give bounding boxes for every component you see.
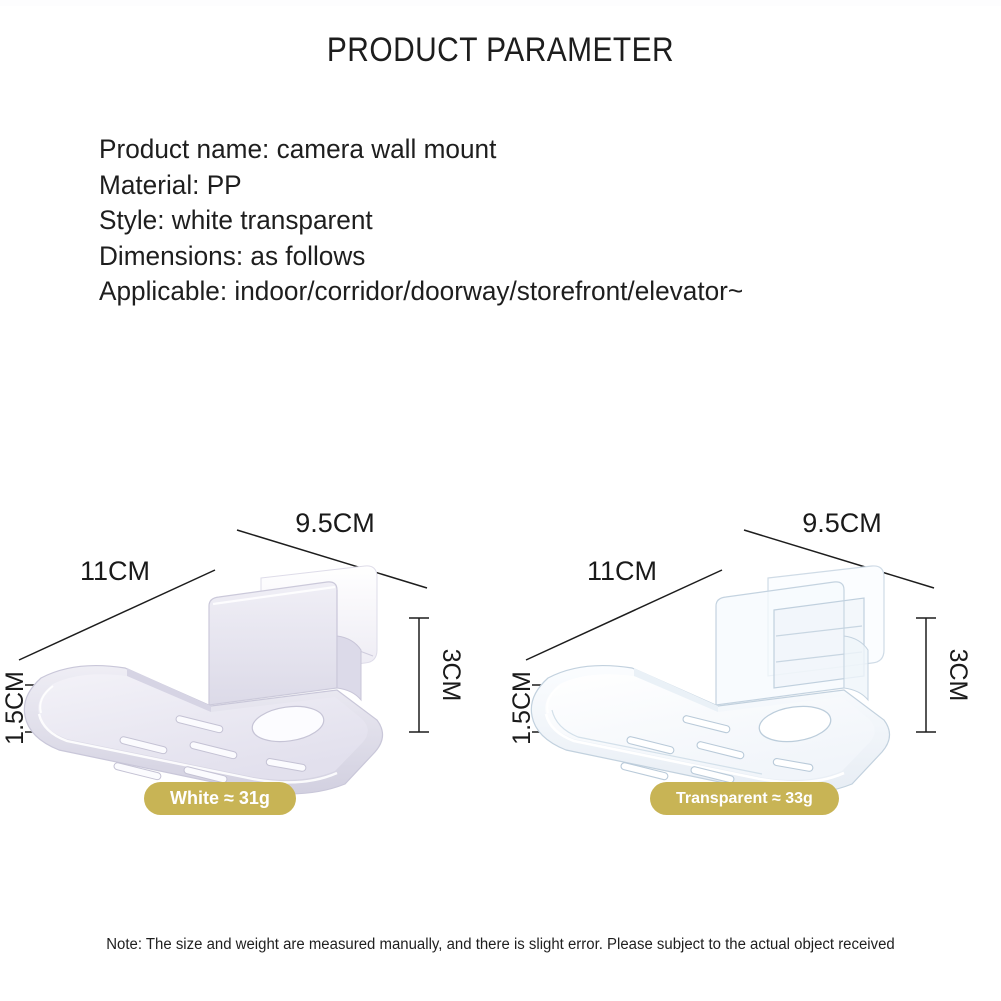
top-edge-artifact (0, 0, 1001, 6)
variant-badge-transparent: Transparent ≈ 33g (650, 782, 839, 815)
label-depth-white: 11CM (80, 556, 150, 586)
label-back-height-transparent: 3CM (944, 649, 972, 702)
label-back-height-white: 3CM (437, 649, 465, 702)
label-tray-height-transparent: 1.5CM (512, 671, 536, 745)
label-width-transparent: 9.5CM (802, 508, 882, 538)
spec-line-dimensions: Dimensions: as follows (99, 239, 894, 275)
label-width-white: 9.5CM (295, 508, 375, 538)
variant-badge-white: White ≈ 31g (144, 782, 296, 815)
label-tray-height-white: 1.5CM (5, 671, 29, 745)
spec-line-applicable: Applicable: indoor/corridor/doorway/stor… (99, 274, 894, 310)
spec-line-product-name: Product name: camera wall mount (99, 132, 894, 168)
spec-line-material: Material: PP (99, 168, 894, 204)
footer-note: Note: The size and weight are measured m… (18, 936, 984, 954)
page-title: PRODUCT PARAMETER (60, 31, 941, 70)
specification-list: Product name: camera wall mount Material… (99, 132, 919, 310)
spec-line-style: Style: white transparent (99, 203, 894, 239)
label-depth-transparent: 11CM (587, 556, 657, 586)
back-panel-white (209, 582, 337, 705)
